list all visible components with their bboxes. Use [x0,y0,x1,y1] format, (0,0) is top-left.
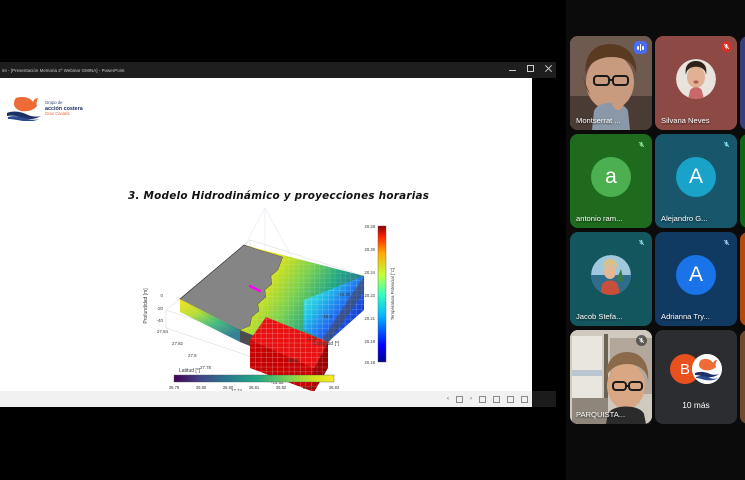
speaking-indicator-icon [634,41,647,54]
participant-name: antonio ram... [576,214,647,223]
mic-muted-icon [636,237,647,248]
sorter-view-icon[interactable] [493,396,500,403]
x-axis-label: Latitud [°] [179,368,201,374]
window-titlebar[interactable]: int - [Presentación Memoria 2º Webinar G… [0,62,556,78]
slideshow-icon[interactable] [521,396,528,403]
minimize-icon[interactable] [508,64,517,73]
svg-text:36.81: 36.81 [249,385,260,390]
svg-text:36.82: 36.82 [303,385,314,390]
participant-tile-ana[interactable]: A Ana... [740,232,745,326]
svg-text:20.21: 20.21 [365,316,376,321]
mic-off-glyph [723,141,730,148]
svg-text:20.26: 20.26 [365,247,376,252]
close-icon[interactable] [544,64,553,73]
participant-name: Alejandro G... [661,214,732,223]
window-controls[interactable] [508,64,553,73]
svg-text:-15.4: -15.4 [322,314,333,319]
svg-text:20.28: 20.28 [365,224,376,229]
participant-tile-alejandro[interactable]: A Alejandro G... [655,134,737,228]
svg-text:20.24: 20.24 [365,270,376,275]
participant-tile-luis[interactable]: L Luis... [740,134,745,228]
svg-text:36.82: 36.82 [276,385,287,390]
z-axis-label: Profundidad [m] [143,288,149,324]
overflow-avatars: B [670,354,722,384]
svg-text:36.79: 36.79 [169,385,180,390]
next-slide-button[interactable]: › [470,396,472,403]
y-axis-label: Longitud [°] [314,341,340,347]
overflow-count-label: 10 más [655,400,737,410]
svg-text:27.82: 27.82 [172,341,184,346]
figure-svg: Profundidad [m] 0 -20 -40 27.84 27.82 27… [132,218,398,391]
slide-title: 3. Modelo Hidrodinámico y proyecciones h… [128,190,428,202]
svg-text:36.83: 36.83 [329,385,340,390]
mic-off-glyph [638,337,645,344]
brand-text: Grupo de acción costera Gran Canaria [45,101,83,116]
participant-name: PARQUISTA... [576,410,647,419]
svg-text:27.8: 27.8 [188,353,197,358]
participant-tile-jacob[interactable]: Jacob Stefa... [570,232,652,326]
mic-muted-icon [721,139,732,150]
participant-tile-antonio[interactable]: a antonio ram... [570,134,652,228]
avatar: A [676,255,716,295]
mic-off-glyph [638,239,645,246]
participant-tile-adrianna[interactable]: A Adrianna Try... [655,232,737,326]
participant-name: Montserrat ... [576,116,647,125]
participant-tile-overflow[interactable]: B 10 más [655,330,737,424]
maximize-icon[interactable] [526,64,535,73]
mic-off-glyph [723,43,730,50]
participant-tile-montserrat[interactable]: Montserrat ... [570,36,652,130]
svg-text:0: 0 [161,293,164,298]
avatar-photo [676,59,716,99]
svg-text:20.19: 20.19 [365,339,376,344]
participant-name: Adrianna Try... [661,312,732,321]
mic-off-glyph [638,141,645,148]
svg-text:36.80: 36.80 [196,385,207,390]
temperature-colorbar-label: Temperatura Potencial [°C] [390,268,395,321]
slide-icon[interactable] [456,396,463,403]
svg-text:27.84: 27.84 [157,329,169,334]
svg-text:36.80: 36.80 [223,385,234,390]
slide-canvas[interactable]: Grupo de acción costera Gran Canaria 3. … [0,78,532,391]
gac-avatar-icon [692,354,722,384]
temperature-colorbar-ticks: 20.28 20.26 20.24 20.23 20.21 20.19 20.1… [365,224,376,365]
grupo-accion-costera-logo: Grupo de acción costera Gran Canaria [6,95,84,122]
avatar [591,255,631,295]
participant-grid: Montserrat ... Silva [566,0,745,480]
participant-tile-parquista[interactable]: PARQUISTA... [570,330,652,424]
temperature-colorbar: Temperatura Potencial [°C] 20.28 20.26 2… [365,224,395,365]
mic-muted-icon [636,335,647,346]
avatar: a [591,157,631,197]
avatar-photo [591,255,631,295]
svg-text:-20: -20 [157,306,164,311]
prev-slide-button[interactable]: ‹ [447,396,449,403]
window-title: int - [Presentación Memoria 2º Webinar G… [0,68,125,73]
mic-muted-icon [721,41,732,52]
desktop-background [0,407,556,480]
powerpoint-statusbar[interactable]: ‹ › [0,391,532,407]
reading-view-icon[interactable] [507,396,514,403]
svg-text:27.78: 27.78 [200,365,212,370]
participant-name: Jacob Stefa... [576,312,647,321]
mic-muted-icon [636,139,647,150]
svg-text:20.23: 20.23 [365,293,376,298]
powerpoint-window[interactable]: int - [Presentación Memoria 2º Webinar G… [0,62,556,407]
svg-text:-15.35: -15.35 [338,292,351,297]
mic-off-glyph [723,239,730,246]
hydrodynamic-figure: Profundidad [m] 0 -20 -40 27.84 27.82 27… [132,218,398,391]
svg-text:20.18: 20.18 [365,360,376,365]
slide-right-gutter [532,78,556,391]
svg-text:-15.5: -15.5 [288,358,299,363]
avatar [676,59,716,99]
z-axis-ticks: 0 -20 -40 [157,293,164,323]
participant-tile-giovanni[interactable]: Giov... [740,36,745,130]
svg-text:-40: -40 [157,318,164,323]
participant-name: Silvana Neves [661,116,732,125]
shared-screen-region[interactable]: int - [Presentación Memoria 2º Webinar G… [0,0,566,480]
participant-tile-silvana[interactable]: Silvana Neves [655,36,737,130]
meeting-screen-share-view: int - [Presentación Memoria 2º Webinar G… [0,0,745,480]
mic-muted-icon [721,237,732,248]
avatar-logo [692,354,722,384]
avatar: A [676,157,716,197]
brand-line-3: Gran Canaria [45,112,83,117]
normal-view-icon[interactable] [479,396,486,403]
participant-tile-esther[interactable]: Esth... [740,330,745,424]
fish-wave-icon [6,96,42,121]
